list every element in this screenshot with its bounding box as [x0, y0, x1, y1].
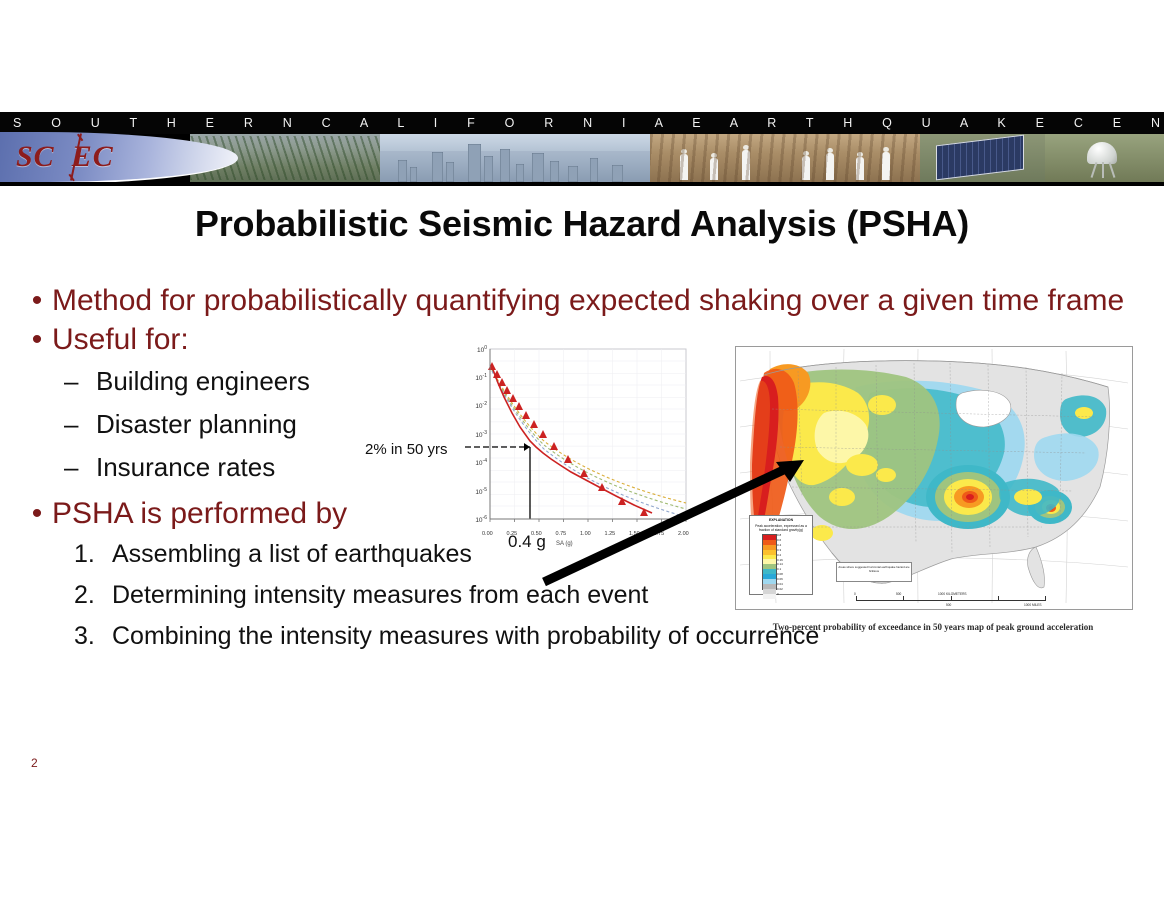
building [484, 156, 493, 182]
x-tick-label: 1.00 [580, 531, 591, 537]
x-tick-label: 1.50 [629, 531, 640, 537]
field-person [742, 150, 750, 180]
gps-dome [1087, 142, 1117, 164]
x-tick-label: 1.75 [654, 531, 665, 537]
numbered-text: Assembling a list of earthquakes [112, 534, 472, 575]
hazard-curve-figure: 2% in 50 yrs 0.4 g [440, 340, 730, 555]
field-person [680, 154, 688, 180]
building [532, 153, 544, 182]
x-tick-label: 2.00 [678, 531, 689, 537]
scale-tick [856, 596, 857, 601]
building [398, 160, 407, 182]
scec-banner: S O U T H E R N C A L I F O R N I A E A … [0, 112, 1164, 186]
x-axis-label: SA (g) [556, 541, 573, 547]
y-tick-label: 10-4 [463, 458, 487, 467]
y-tick-label: 10-6 [463, 515, 487, 524]
photo-gps-station [1045, 134, 1164, 182]
y-tick-label: 10-5 [463, 487, 487, 496]
page-title: Probabilistic Seismic Hazard Analysis (P… [0, 203, 1164, 245]
hazard-curve-plot: 100 10-1 10-2 10-3 10-4 10-5 10-6 0.00 0… [464, 345, 711, 528]
scale-tick [1045, 596, 1046, 601]
scale-label: 500 [896, 592, 901, 596]
building [590, 158, 598, 182]
numbered-marker: 3. [74, 616, 112, 657]
sub-bullet-marker: – [64, 446, 96, 489]
scec-logo-text: SC EC [16, 140, 114, 174]
scale-label: 500 [946, 603, 951, 607]
legend-values: 0.80.60.40.30.20.16 0.140.10.080.060.040… [777, 533, 783, 597]
field-person [856, 157, 864, 180]
x-tick-label: 1.25 [605, 531, 616, 537]
x-tick-label: 0.25 [507, 531, 518, 537]
y-tick-label: 10-3 [463, 430, 487, 439]
bullet-marker: • [22, 321, 52, 358]
field-person [826, 153, 834, 180]
numbered-marker: 2. [74, 575, 112, 616]
tripod-leg [1109, 162, 1116, 178]
numbered-marker: 1. [74, 534, 112, 575]
building [516, 164, 524, 182]
sub-bullet-text: Building engineers [96, 360, 310, 403]
sub-bullet-text: Disaster planning [96, 403, 297, 446]
x-tick-label: 0.00 [482, 531, 493, 537]
building [446, 162, 454, 182]
legend-color-ramp [762, 534, 777, 590]
building [410, 167, 417, 182]
banner-org-strip: S O U T H E R N C A L I F O R N I A E A … [0, 112, 1164, 134]
scale-tick [903, 596, 904, 601]
banner-org-text: S O U T H E R N C A L I F O R N I A E A … [0, 112, 1164, 134]
page-number: 2 [31, 756, 38, 770]
bullet-marker: • [22, 495, 52, 532]
y-tick-label: 100 [463, 345, 487, 354]
field-person [710, 158, 718, 180]
scale-label: 1000 KILOMETERS [938, 592, 967, 596]
x-tick-label: 0.50 [531, 531, 542, 537]
building [612, 165, 623, 182]
photo-los-angeles-skyline [380, 134, 650, 182]
scale-label: 1000 MILES [1024, 603, 1042, 607]
banner-bottom-bar [0, 182, 1164, 186]
hazard-curve-svg [464, 345, 711, 545]
scale-tick [951, 596, 952, 601]
bullet-marker: • [22, 282, 52, 319]
solar-panel-array [936, 135, 1024, 181]
scale-tick [998, 596, 999, 601]
field-person [882, 152, 890, 180]
photo-solar-panel [920, 134, 1045, 182]
map-caption: Two-percent probability of exceedance in… [735, 622, 1131, 632]
bullet-text: Method for probabilistically quantifying… [52, 282, 1142, 319]
building [500, 149, 510, 182]
legend-subtitle: Peak acceleration, expressed as a fracti… [750, 522, 812, 532]
bullet-item: • Method for probabilistically quantifyi… [22, 282, 1142, 319]
field-person [802, 156, 810, 180]
sub-bullet-text: Insurance rates [96, 446, 275, 489]
numbered-text: Determining intensity measures from each… [112, 575, 648, 616]
annotation-2pct-50yrs: 2% in 50 yrs [365, 441, 448, 458]
scale-label: 0 [854, 592, 856, 596]
usgs-hazard-map: EXPLANATION Peak acceleration, expressed… [735, 346, 1133, 610]
building [432, 152, 443, 182]
building [468, 144, 481, 182]
building [550, 161, 559, 182]
map-legend: EXPLANATION Peak acceleration, expressed… [749, 515, 813, 595]
numbered-text: Combining the intensity measures with pr… [112, 616, 819, 657]
y-tick-label: 10-2 [463, 401, 487, 410]
tripod-leg [1091, 162, 1098, 178]
building [568, 166, 578, 182]
map-legend-note: Areas where suggested horizontal earthqu… [836, 562, 912, 582]
sky-gradient [380, 134, 650, 151]
tripod-leg [1102, 162, 1104, 178]
photo-field-trip [650, 134, 920, 182]
x-tick-label: 0.75 [556, 531, 567, 537]
y-tick-label: 10-1 [463, 373, 487, 382]
sub-bullet-marker: – [64, 403, 96, 446]
sub-bullet-marker: – [64, 360, 96, 403]
